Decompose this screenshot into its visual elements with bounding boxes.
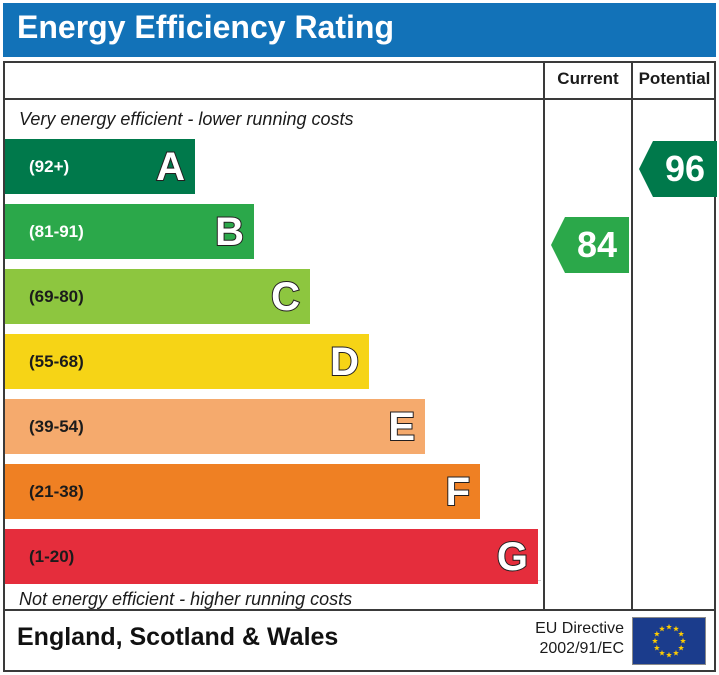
band-letter-c: C: [271, 277, 300, 317]
potential-rating-value: 96: [665, 148, 705, 190]
rating-band-g: (1-20)G: [5, 529, 538, 584]
current-column-divider: [543, 63, 545, 609]
current-rating-value: 84: [577, 224, 617, 266]
rating-bands: (92+)A(81-91)B(69-80)C(55-68)D(39-54)E(2…: [5, 63, 541, 609]
rating-band-c: (69-80)C: [5, 269, 310, 324]
footer-bar: England, Scotland & Wales EU Directive 2…: [3, 611, 716, 672]
band-letter-g: G: [497, 537, 528, 577]
directive-line-1: EU Directive: [535, 619, 624, 639]
footer-region-label: England, Scotland & Wales: [17, 623, 338, 652]
rating-band-f: (21-38)F: [5, 464, 480, 519]
current-column-header: Current: [545, 69, 631, 89]
rating-band-d: (55-68)D: [5, 334, 369, 389]
page-title: Energy Efficiency Rating: [17, 9, 394, 46]
rating-band-e: (39-54)E: [5, 399, 425, 454]
band-range-label: (21-38): [29, 482, 84, 502]
band-letter-d: D: [330, 342, 359, 382]
band-range-label: (1-20): [29, 547, 74, 567]
rating-chart-frame: Current Potential Very energy efficient …: [3, 61, 716, 611]
band-letter-f: F: [446, 472, 470, 512]
band-range-label: (92+): [29, 157, 69, 177]
potential-column-divider: [631, 63, 633, 609]
band-range-label: (55-68): [29, 352, 84, 372]
band-letter-e: E: [388, 407, 415, 447]
title-banner: Energy Efficiency Rating: [3, 3, 716, 57]
band-range-label: (81-91): [29, 222, 84, 242]
eu-flag-stars: [633, 618, 705, 664]
rating-band-b: (81-91)B: [5, 204, 254, 259]
energy-efficiency-certificate: Energy Efficiency Rating Current Potenti…: [0, 0, 719, 675]
current-rating-badge: 84: [551, 217, 629, 273]
band-letter-a: A: [156, 147, 185, 187]
band-letter-b: B: [215, 212, 244, 252]
eu-flag-icon: [632, 617, 706, 665]
potential-rating-badge: 96: [639, 141, 717, 197]
band-range-label: (39-54): [29, 417, 84, 437]
rating-band-a: (92+)A: [5, 139, 195, 194]
footer-directive: EU Directive 2002/91/EC: [535, 619, 624, 659]
band-range-label: (69-80): [29, 287, 84, 307]
directive-line-2: 2002/91/EC: [535, 639, 624, 659]
potential-column-header: Potential: [633, 69, 716, 89]
